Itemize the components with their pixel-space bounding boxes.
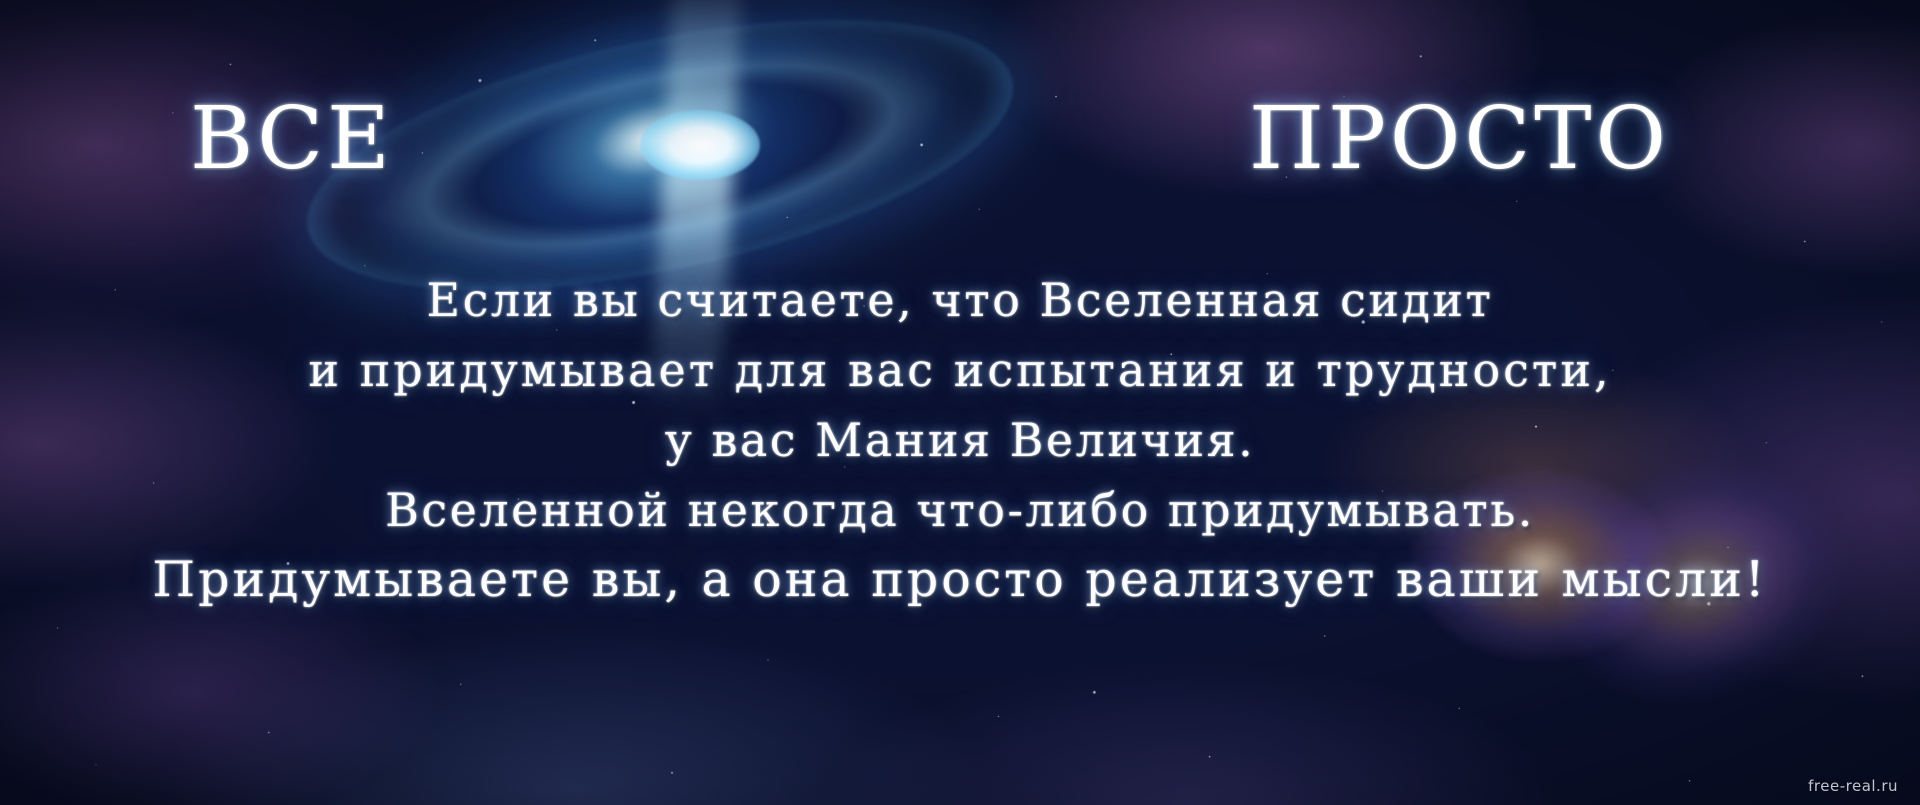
headline-right: ПРОСТО — [1249, 96, 1670, 182]
quote-line-1: Если вы считаете, что Вселенная сидит — [0, 265, 1920, 335]
quote-line-2: и придумывает для вас испытания и трудно… — [0, 335, 1920, 405]
watermark: free-real.ru — [1808, 777, 1898, 795]
quote-line-5: Придумываете вы, а она просто реализует … — [0, 545, 1920, 615]
quote-body: Если вы считаете, что Вселенная сидит и … — [0, 265, 1920, 615]
quote-line-4: Вселенной некогда что-либо придумывать. — [0, 475, 1920, 545]
space-quote-poster: ВСЕ ПРОСТО Если вы считаете, что Вселенн… — [0, 0, 1920, 805]
headline-left: ВСЕ — [190, 96, 394, 182]
poster-content: ВСЕ ПРОСТО Если вы считаете, что Вселенн… — [0, 0, 1920, 805]
quote-line-3: у вас Мания Величия. — [0, 405, 1920, 475]
headline-row: ВСЕ ПРОСТО — [0, 96, 1920, 182]
